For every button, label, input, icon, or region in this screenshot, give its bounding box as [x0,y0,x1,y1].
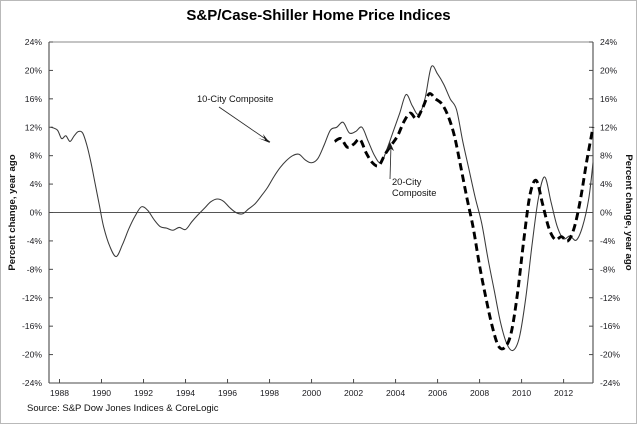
annotation-10-city-label: 10-City Composite [197,94,273,104]
y-tick-label-left: -12% [22,293,42,303]
y-tick-label-left: -8% [27,264,43,274]
x-tick-label: 2006 [428,388,447,398]
y-axis-title-right: Percent change, year ago [623,154,634,270]
line-chart: 24%24%20%20%16%16%12%12%8%8%4%4%0%0%-4%-… [1,1,638,425]
annotation-20-city-label-line2: Composite [392,188,436,198]
y-tick-label-right: -4% [600,236,616,246]
y-tick-label-right: -12% [600,293,620,303]
y-tick-label-right: -20% [600,350,620,360]
y-tick-label-right: -24% [600,378,620,388]
y-tick-label-left: 12% [25,122,43,132]
x-tick-label: 1998 [260,388,279,398]
annotation-20-city-label-line1: 20-City [392,177,422,187]
y-tick-label-left: 8% [30,151,43,161]
x-tick-label: 1992 [134,388,153,398]
y-tick-label-left: -16% [22,321,42,331]
y-tick-label-left: 24% [25,37,43,47]
y-tick-label-right: 0% [600,208,613,218]
y-tick-label-left: -20% [22,350,42,360]
x-tick-label: 1996 [218,388,237,398]
y-tick-label-right: 4% [600,179,613,189]
y-axis-title-left: Percent change, year ago [7,154,18,270]
y-tick-label-right: 12% [600,122,618,132]
y-tick-label-left: -24% [22,378,42,388]
y-tick-label-left: 16% [25,94,43,104]
series-line-10-city [51,66,593,351]
y-tick-label-left: -4% [27,236,43,246]
y-tick-label-right: 8% [600,151,613,161]
source-note: Source: S&P Dow Jones Indices & CoreLogi… [27,403,219,414]
y-tick-label-right: 20% [600,65,618,75]
y-tick-label-right: 16% [600,94,618,104]
data-series [51,66,593,351]
x-tick-label: 2000 [302,388,321,398]
y-tick-label-right: -8% [600,264,616,274]
axis-tick-labels: 24%24%20%20%16%16%12%12%8%8%4%4%0%0%-4%-… [7,37,634,398]
x-tick-label: 2012 [554,388,573,398]
y-tick-label-left: 4% [30,179,43,189]
y-tick-label-left: 0% [30,208,43,218]
x-tick-label: 2002 [344,388,363,398]
annotation-10-city-leader [219,107,270,142]
x-tick-label: 1988 [50,388,69,398]
x-tick-label: 1990 [92,388,111,398]
y-tick-label-right: -16% [600,321,620,331]
annotation-20-city-leader [390,145,391,179]
x-tick-label: 1994 [176,388,195,398]
y-tick-label-right: 24% [600,37,618,47]
y-tick-label-left: 20% [25,65,43,75]
series-line-20-city [335,94,593,349]
chart-figure: S&P/Case-Shiller Home Price Indices 24%2… [0,0,637,424]
x-tick-label: 2008 [470,388,489,398]
x-tick-label: 2010 [512,388,531,398]
x-tick-label: 2004 [386,388,405,398]
